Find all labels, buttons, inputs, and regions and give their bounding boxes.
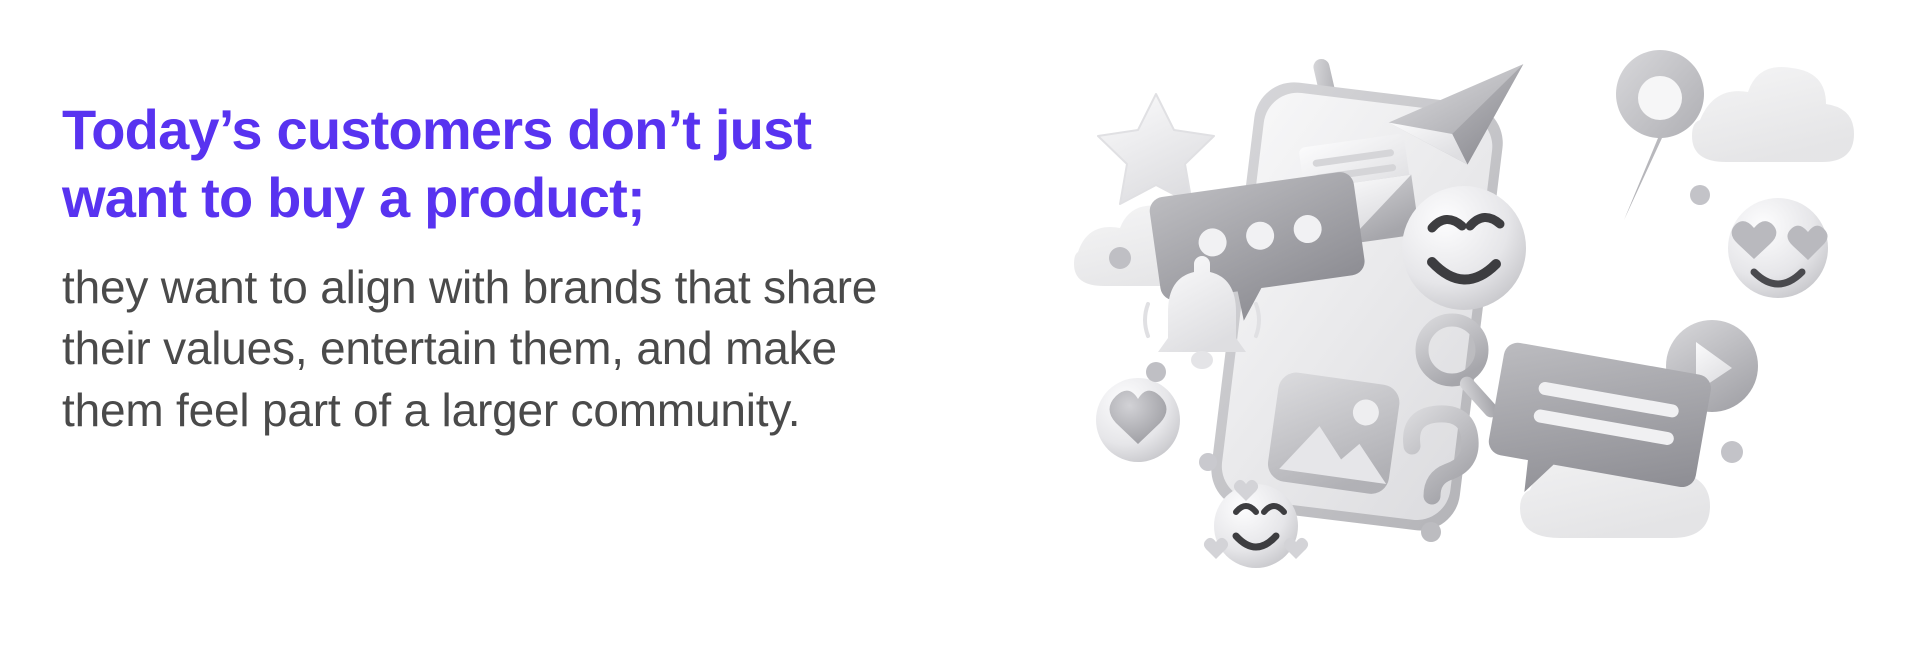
cloud-icon — [1692, 67, 1854, 162]
dot-icon — [1146, 362, 1166, 382]
body-paragraph: they want to align with brands that shar… — [62, 257, 1052, 442]
text-column: Today’s customers don’t just want to buy… — [62, 96, 1052, 442]
photo-icon — [1266, 370, 1402, 496]
dot-icon — [1109, 247, 1131, 269]
smiley-emoji-icon — [1402, 186, 1526, 310]
dot-icon — [1199, 453, 1217, 471]
social-media-3d-illustration — [1060, 20, 1920, 630]
dot-icon — [1721, 441, 1743, 463]
star-icon — [1098, 94, 1214, 204]
heart-eyes-emoji-icon — [1728, 198, 1828, 298]
slide-root: Today’s customers don’t just want to buy… — [0, 0, 1920, 650]
dot-icon — [1690, 185, 1710, 205]
heart-badge-icon — [1096, 378, 1180, 462]
page-title: Today’s customers don’t just want to buy… — [62, 96, 1052, 233]
